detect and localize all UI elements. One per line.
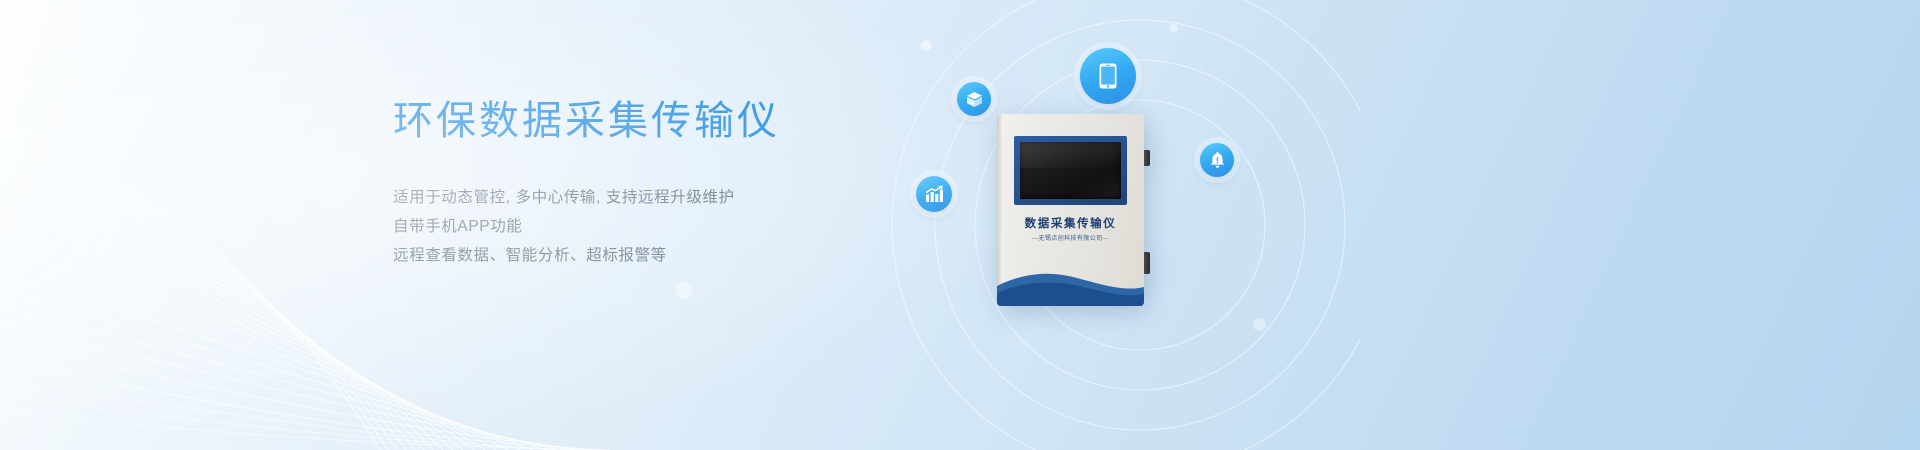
device-bottom-wave — [997, 268, 1144, 306]
product-device-image: 数据采集传输仪 —无锡点创科技有限公司— — [997, 114, 1144, 306]
bokeh-dot — [676, 282, 693, 299]
bar-chart-icon — [925, 185, 944, 203]
device-screen — [1020, 142, 1121, 199]
banner-copy: 环保数据采集传输仪 适用于动态管控, 多中心传输, 支持远程升级维护 自带手机A… — [393, 96, 913, 270]
device-body: 数据采集传输仪 —无锡点创科技有限公司— — [997, 114, 1144, 306]
banner-subline-1: 适用于动态管控, 多中心传输, 支持远程升级维护 — [393, 183, 913, 212]
bubble-bar-chart[interactable] — [916, 176, 952, 212]
banner-subline-3: 远程查看数据、智能分析、超标报警等 — [393, 241, 913, 270]
bubble-package-box[interactable] — [957, 82, 991, 116]
banner-headline: 环保数据采集传输仪 — [393, 96, 913, 146]
device-label-text: 数据采集传输仪 — [997, 215, 1144, 231]
bokeh-dot — [1170, 24, 1178, 32]
banner-subline-2: 自带手机APP功能 — [393, 212, 913, 241]
banner-subline-list: 适用于动态管控, 多中心传输, 支持远程升级维护 自带手机APP功能 远程查看数… — [393, 183, 913, 270]
device-company-text: —无锡点创科技有限公司— — [997, 233, 1144, 242]
device-screen-bezel — [1014, 136, 1127, 205]
bokeh-dot — [921, 40, 932, 51]
alarm-bell-icon — [1209, 152, 1226, 169]
mobile-phone-icon — [1098, 62, 1118, 90]
package-box-icon — [966, 91, 983, 108]
bokeh-dot — [1253, 318, 1266, 331]
device-connector-nub — [1144, 150, 1150, 166]
bubble-mobile-phone[interactable] — [1080, 48, 1136, 104]
bubble-alarm-bell[interactable] — [1200, 143, 1234, 177]
device-connector-nub — [1144, 252, 1150, 274]
product-hero-banner: 环保数据采集传输仪 适用于动态管控, 多中心传输, 支持远程升级维护 自带手机A… — [0, 0, 1920, 450]
